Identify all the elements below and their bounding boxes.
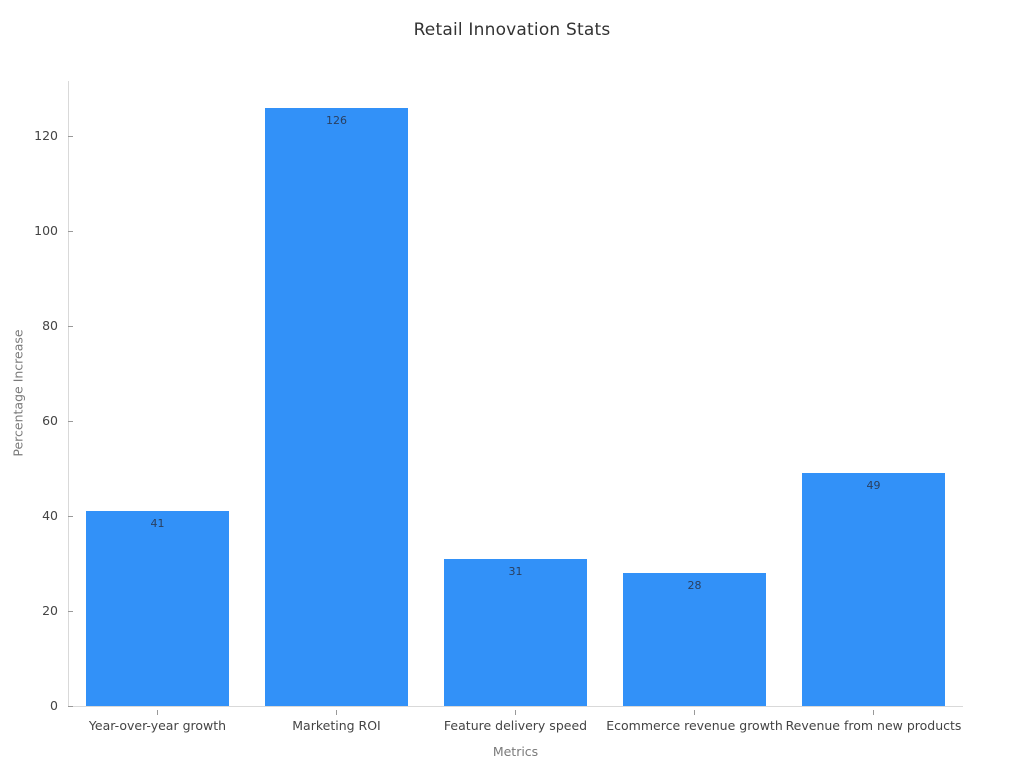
bar[interactable]: 126: [265, 108, 408, 706]
y-axis-tick-label: 80: [42, 318, 58, 333]
chart-title: Retail Innovation Stats: [0, 20, 1024, 40]
y-axis-tick-label: 40: [42, 508, 58, 523]
x-axis-spine: [68, 706, 963, 707]
y-axis-tick-mark: [68, 421, 73, 422]
y-axis-tick-mark: [68, 706, 73, 707]
x-axis-tick-mark: [515, 710, 516, 715]
bar-value-label: 31: [444, 565, 587, 578]
plot-area: 41126312849: [68, 81, 963, 706]
y-axis-tick-mark: [68, 326, 73, 327]
x-axis-tick-label: Marketing ROI: [292, 718, 380, 733]
x-axis-tick-mark: [336, 710, 337, 715]
bar[interactable]: 31: [444, 559, 587, 706]
y-axis-tick-label: 120: [34, 128, 58, 143]
y-axis-tick-label: 100: [34, 223, 58, 238]
bar-value-label: 126: [265, 114, 408, 127]
bar[interactable]: 41: [86, 511, 229, 706]
x-axis-tick-label: Year-over-year growth: [89, 718, 226, 733]
x-axis-tick-mark: [694, 710, 695, 715]
x-axis-tick-label: Feature delivery speed: [444, 718, 587, 733]
y-axis-tick-label: 0: [50, 698, 58, 713]
bar-value-label: 41: [86, 517, 229, 530]
y-axis-tick-mark: [68, 611, 73, 612]
y-axis-title: Percentage Increase: [11, 329, 26, 456]
bar[interactable]: 49: [802, 473, 945, 706]
x-axis-tick-mark: [157, 710, 158, 715]
y-axis-tick-label: 60: [42, 413, 58, 428]
x-axis-tick-mark: [873, 710, 874, 715]
bar[interactable]: 28: [623, 573, 766, 706]
y-axis-tick-mark: [68, 516, 73, 517]
x-axis-title: Metrics: [68, 744, 963, 759]
x-axis-tick-label: Ecommerce revenue growth: [606, 718, 783, 733]
bar-value-label: 49: [802, 479, 945, 492]
bar-chart: Retail Innovation Stats 41126312849 0204…: [0, 0, 1024, 768]
y-axis-tick-mark: [68, 231, 73, 232]
bar-value-label: 28: [623, 579, 766, 592]
x-axis-tick-label: Revenue from new products: [786, 718, 962, 733]
y-axis-tick-label: 20: [42, 603, 58, 618]
y-axis-tick-mark: [68, 136, 73, 137]
